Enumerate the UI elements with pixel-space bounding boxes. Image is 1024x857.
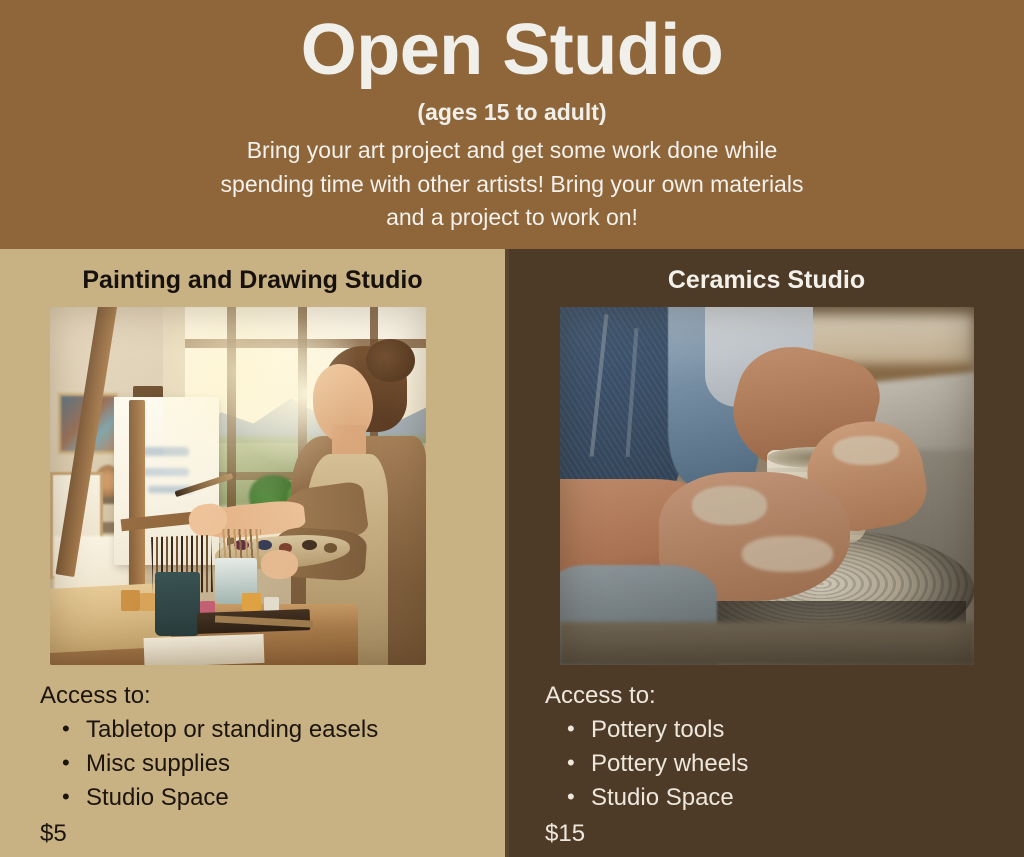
ceramics-studio-column: Ceramics Studio	[509, 249, 1024, 857]
photo-vignette	[50, 307, 426, 665]
painting-studio-photo	[50, 307, 426, 665]
studio-columns: Painting and Drawing Studio	[0, 249, 1024, 857]
ceramics-access-label: Access to:	[545, 679, 1024, 712]
painting-access-label: Access to:	[40, 679, 505, 712]
list-item: Pottery tools	[545, 713, 1024, 747]
list-item: Studio Space	[545, 781, 1024, 815]
photo-vignette	[560, 307, 974, 665]
ceramics-access-block: Access to: Pottery tools Pottery wheels …	[509, 679, 1024, 851]
header-description-line-2: spending time with other artists! Bring …	[0, 168, 1024, 201]
page-title: Open Studio	[0, 13, 1024, 89]
list-item: Pottery wheels	[545, 747, 1024, 781]
painting-studio-title: Painting and Drawing Studio	[0, 265, 505, 295]
ceramics-studio-title: Ceramics Studio	[509, 265, 1024, 295]
ceramics-access-list: Pottery tools Pottery wheels Studio Spac…	[545, 713, 1024, 815]
painting-access-block: Access to: Tabletop or standing easels M…	[0, 679, 505, 851]
painting-price: $5	[40, 817, 505, 851]
header-description-line-1: Bring your art project and get some work…	[0, 134, 1024, 167]
open-studio-poster: Open Studio (ages 15 to adult) Bring you…	[0, 0, 1024, 857]
poster-header: Open Studio (ages 15 to adult) Bring you…	[0, 0, 1024, 249]
list-item: Misc supplies	[40, 747, 505, 781]
list-item: Tabletop or standing easels	[40, 713, 505, 747]
painting-studio-column: Painting and Drawing Studio	[0, 249, 505, 857]
header-description: Bring your art project and get some work…	[0, 134, 1024, 234]
age-range-subtitle: (ages 15 to adult)	[0, 99, 1024, 127]
header-description-line-3: and a project to work on!	[0, 201, 1024, 234]
list-item: Studio Space	[40, 781, 505, 815]
ceramics-price: $15	[545, 817, 1024, 851]
ceramics-studio-photo	[560, 307, 974, 665]
painting-access-list: Tabletop or standing easels Misc supplie…	[40, 713, 505, 815]
